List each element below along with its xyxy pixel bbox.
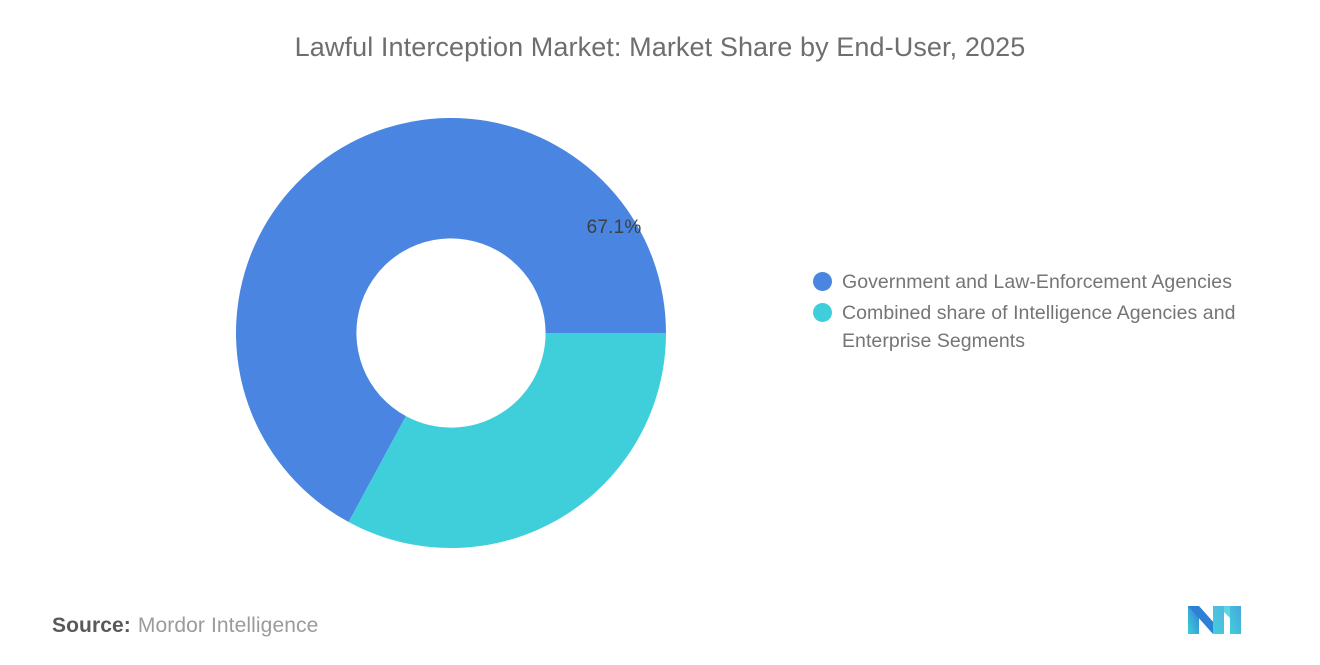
mordor-intelligence-logo-icon bbox=[1186, 598, 1252, 638]
legend-item-label: Combined share of Intelligence Agencies … bbox=[842, 299, 1292, 355]
donut-chart: 67.1% bbox=[236, 118, 666, 548]
page-title: Lawful Interception Market: Market Share… bbox=[0, 28, 1320, 66]
legend-item-government[interactable]: Government and Law-Enforcement Agencies bbox=[813, 268, 1303, 296]
legend-color-swatch-icon bbox=[813, 303, 832, 322]
source-attribution: Source:Mordor Intelligence bbox=[52, 611, 318, 641]
legend-item-label: Government and Law-Enforcement Agencies bbox=[842, 268, 1232, 296]
source-name: Mordor Intelligence bbox=[138, 614, 319, 637]
legend-item-combined[interactable]: Combined share of Intelligence Agencies … bbox=[813, 299, 1303, 355]
chart-legend: Government and Law-Enforcement Agencies … bbox=[813, 268, 1303, 358]
donut-chart-svg bbox=[236, 118, 666, 548]
legend-color-swatch-icon bbox=[813, 272, 832, 291]
slice-value-label: 67.1% bbox=[574, 217, 654, 239]
donut-slice-combined[interactable] bbox=[349, 333, 666, 548]
source-label: Source: bbox=[52, 614, 131, 637]
chart-plot-area: 67.1% bbox=[0, 95, 790, 575]
mi-logo-svg bbox=[1186, 598, 1252, 638]
